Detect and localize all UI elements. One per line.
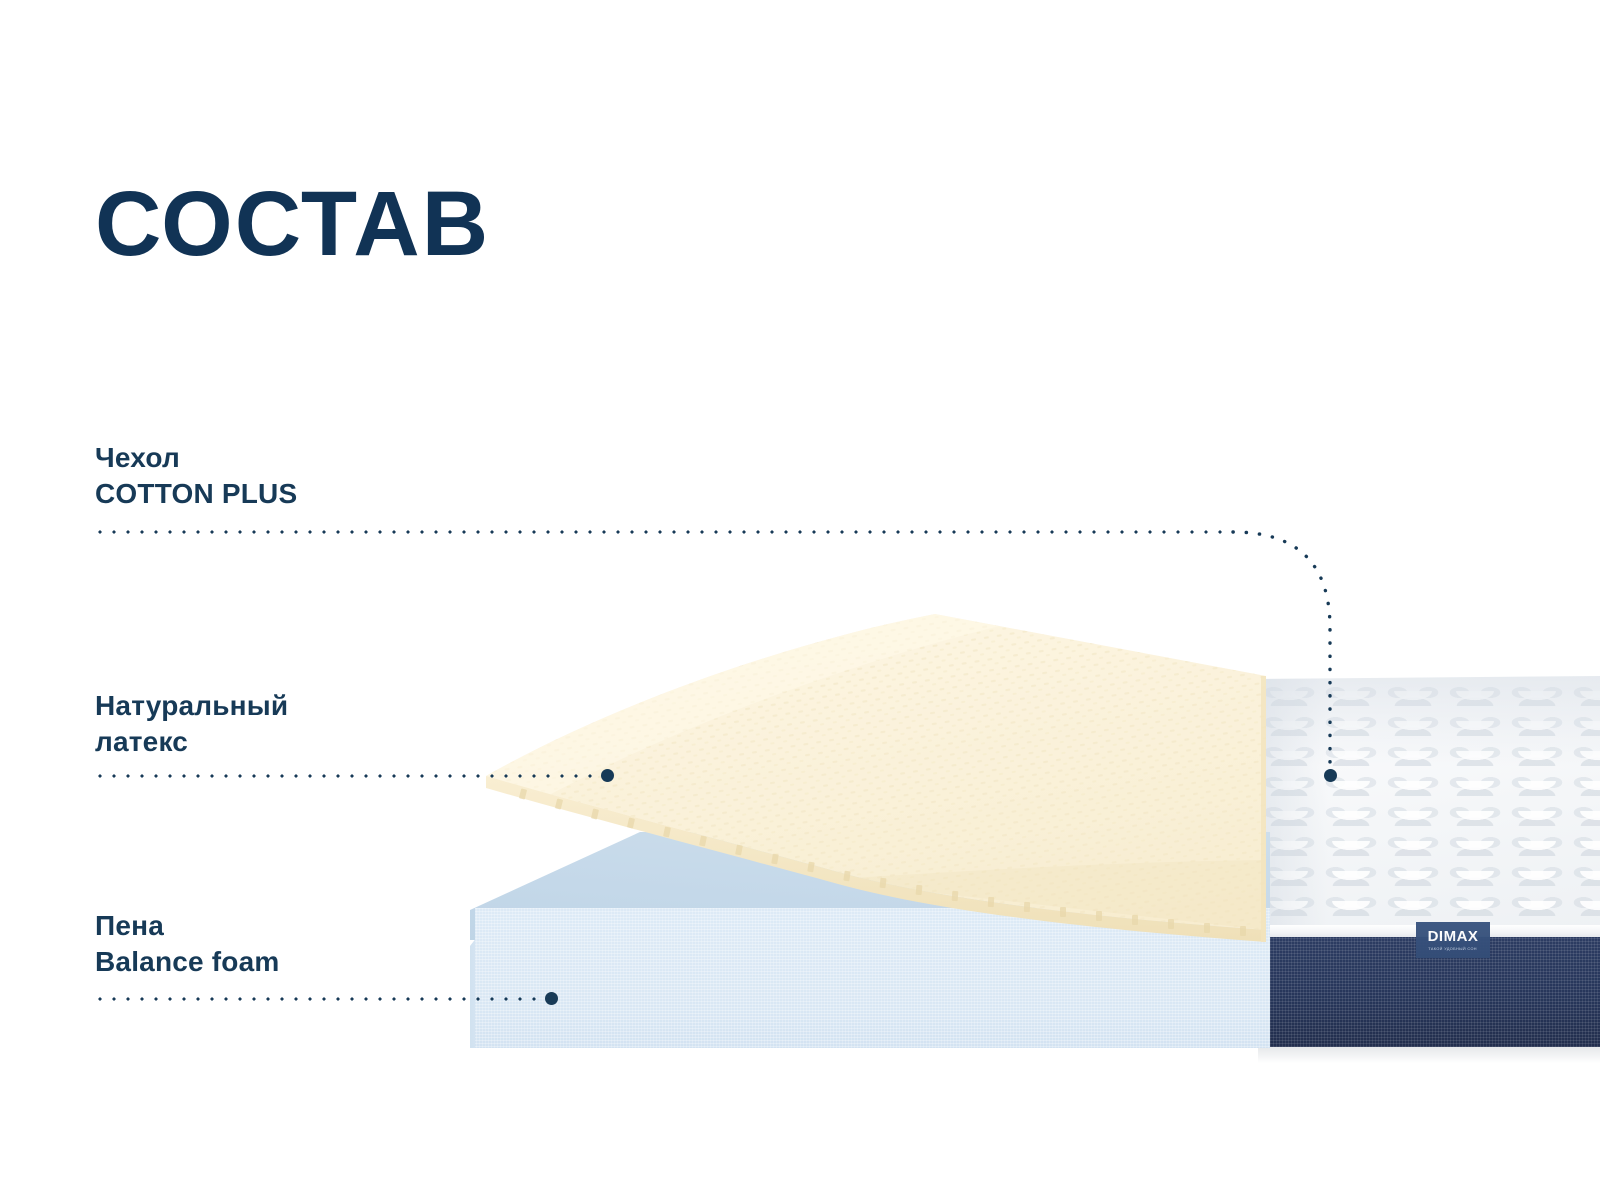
natural-latex-sheet: [0, 0, 1600, 1200]
leader-endpoint-cover: [1324, 769, 1337, 782]
composition-slide: СОСТАВ DIMAX ТАКОЙ УДОБНЫЙ СОН: [0, 0, 1600, 1200]
callout-cover-line1: Чехол: [95, 440, 297, 476]
callout-cover: Чехол COTTON PLUS: [95, 440, 297, 512]
leader-line-cover: [93, 530, 1233, 534]
callout-latex-line2: латекс: [95, 724, 288, 760]
mattress-illustration: DIMAX ТАКОЙ УДОБНЫЙ СОН: [0, 0, 1600, 1200]
callout-latex: Натуральный латекс: [95, 688, 288, 760]
leader-line-latex: [93, 774, 601, 778]
callout-cover-line2: COTTON PLUS: [95, 476, 297, 512]
leader-endpoint-latex: [601, 769, 614, 782]
callout-foam: Пена Balance foam: [95, 908, 279, 980]
leader-endpoint-foam: [545, 992, 558, 1005]
callout-latex-line1: Натуральный: [95, 688, 288, 724]
callout-foam-line2: Balance foam: [95, 944, 279, 980]
callout-foam-line1: Пена: [95, 908, 279, 944]
leader-line-foam: [93, 997, 545, 1001]
